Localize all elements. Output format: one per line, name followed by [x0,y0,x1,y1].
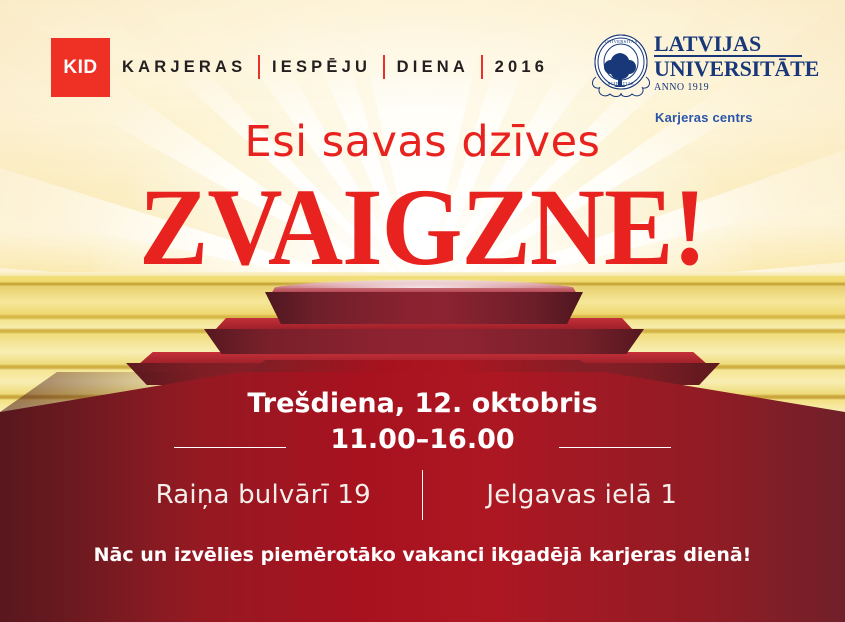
title-word-year: 2016 [483,58,561,77]
event-title-bar: KARJERAS IESPĒJU DIENA 2016 [122,55,560,79]
hero-line-1: Esi savas dzīves [0,117,845,167]
event-tagline: Nāc un izvēlies piemērotāko vakanci ikga… [0,544,845,566]
lu-line-1: LATVIJAS [654,33,802,57]
svg-text:UNIVERSITAS: UNIVERSITAS [604,39,637,44]
lu-anno: ANNO 1919 [654,82,819,93]
event-time: 11.00–16.00 [330,424,514,455]
hero-line-2: ZVAIGZNE! [0,173,845,283]
rule-right [559,447,671,449]
event-date: Trešdiena, 12. oktobris [0,388,845,419]
lu-wordmark: LATVIJAS UNIVERSITĀTE ANNO 1919 [654,33,819,93]
title-word-diena: DIENA [385,58,481,77]
title-word-karjeras: KARJERAS [122,58,258,77]
venue-2: Jelgavas ielā 1 [429,480,734,510]
poster-canvas: KID KARJERAS IESPĒJU DIENA 2016 [0,0,845,622]
venue-row: Raiņa bulvārī 19 Jelgavas ielā 1 [0,470,845,520]
svg-text:SCIENTIAE: SCIENTIAE [608,81,634,86]
latvijas-universitate-logo: UNIVERSITAS SCIENTIAE LATVIJAS UNIVERSIT… [590,30,815,100]
kid-logo-label: KID [63,57,97,79]
venue-divider-icon [422,470,424,520]
title-word-iespeju: IESPĒJU [260,58,383,77]
poster-header: KID KARJERAS IESPĒJU DIENA 2016 [0,0,845,110]
event-time-row: 11.00–16.00 [0,424,845,455]
rule-left [174,447,286,449]
kid-logo-badge: KID [51,38,110,97]
venue-1: Raiņa bulvārī 19 [111,480,416,510]
lu-line-2: UNIVERSITĀTE [654,57,819,81]
oak-tree-seal-icon: UNIVERSITAS SCIENTIAE [590,31,652,99]
